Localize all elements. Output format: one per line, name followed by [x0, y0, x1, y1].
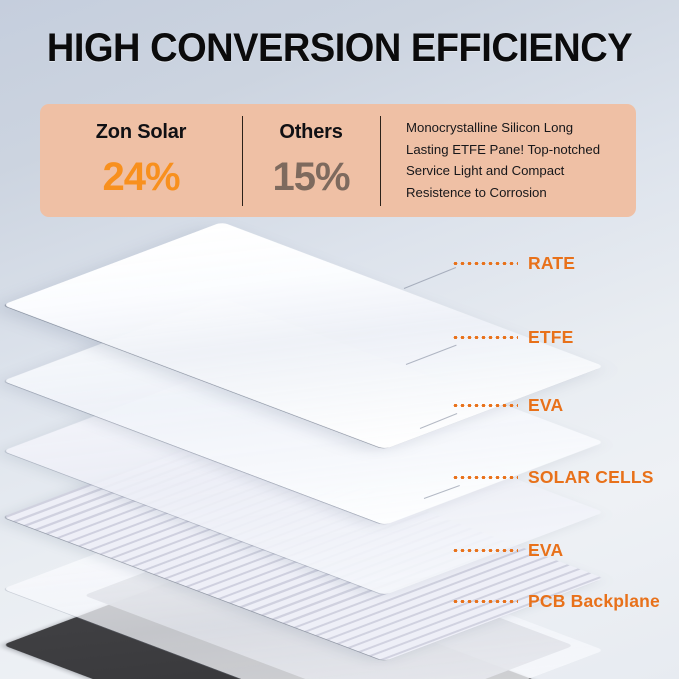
- leader-dots-icon: [452, 336, 518, 339]
- description-text: Monocrystalline Silicon Long Lasting ETF…: [406, 117, 638, 203]
- callout-label-solar-cells: SOLAR CELLS: [528, 467, 654, 488]
- callout-label-rate: RATE: [528, 253, 575, 274]
- leader-dots-icon: [452, 476, 518, 479]
- page-title: HIGH CONVERSION EFFICIENCY: [17, 24, 662, 72]
- zon-solar-heading: Zon Solar: [40, 121, 242, 144]
- description-line-2: Lasting ETFE Pane! Top-notched: [406, 139, 638, 161]
- product-infographic: HIGH CONVERSION EFFICIENCY Zon Solar 24%…: [0, 0, 679, 679]
- callout-label-etfe: ETFE: [528, 327, 574, 348]
- callout-label-eva-upper: EVA: [528, 395, 563, 416]
- description-line-1: Monocrystalline Silicon Long: [406, 117, 638, 139]
- leader-dots-icon: [452, 600, 518, 603]
- callout-label-pcb-backplane: PCB Backplane: [528, 591, 660, 612]
- column-description: Monocrystalline Silicon Long Lasting ETF…: [380, 104, 636, 217]
- others-heading: Others: [242, 121, 380, 144]
- leader-dots-icon: [452, 404, 518, 407]
- callout-solar-cells: SOLAR CELLS: [452, 466, 654, 488]
- efficiency-comparison-panel: Zon Solar 24% Others 15% Monocrystalline…: [40, 104, 636, 217]
- leader-dots-icon: [452, 262, 518, 265]
- callout-label-eva-lower: EVA: [528, 540, 563, 561]
- others-value: 15%: [242, 154, 380, 200]
- callout-rate: RATE: [452, 252, 575, 274]
- column-others: Others 15%: [242, 104, 380, 217]
- zon-solar-value: 24%: [40, 154, 242, 200]
- description-line-4: Resistence to Corrosion: [406, 182, 638, 204]
- column-zon-solar: Zon Solar 24%: [40, 104, 242, 217]
- leader-dots-icon: [452, 549, 518, 552]
- description-line-3: Service Light and Compact: [406, 160, 638, 182]
- callout-eva-lower: EVA: [452, 539, 563, 561]
- callout-eva-upper: EVA: [452, 394, 563, 416]
- callout-etfe: ETFE: [452, 326, 574, 348]
- callout-pcb-backplane: PCB Backplane: [452, 590, 660, 612]
